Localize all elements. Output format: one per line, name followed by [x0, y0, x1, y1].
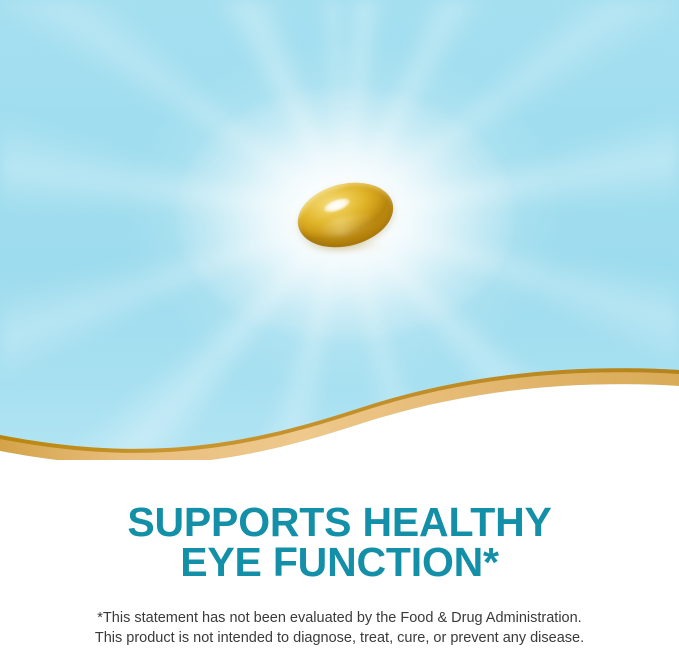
softgel-capsule — [291, 173, 400, 257]
softgel-capsule-image — [297, 184, 394, 246]
headline-line-1: SUPPORTS HEALTHY — [0, 502, 679, 542]
product-marketing-panel: SUPPORTS HEALTHY EYE FUNCTION* *This sta… — [0, 0, 679, 657]
softgel-rim — [291, 173, 400, 257]
disclaimer-line-2: This product is not intended to diagnose… — [0, 628, 679, 648]
disclaimer-line-1: *This statement has not been evaluated b… — [0, 608, 679, 628]
headline-line-2: EYE FUNCTION* — [0, 542, 679, 582]
headline: SUPPORTS HEALTHY EYE FUNCTION* — [0, 502, 679, 582]
gold-wave-divider — [0, 352, 679, 467]
message-panel: SUPPORTS HEALTHY EYE FUNCTION* *This sta… — [0, 460, 679, 657]
fda-disclaimer: *This statement has not been evaluated b… — [0, 608, 679, 648]
